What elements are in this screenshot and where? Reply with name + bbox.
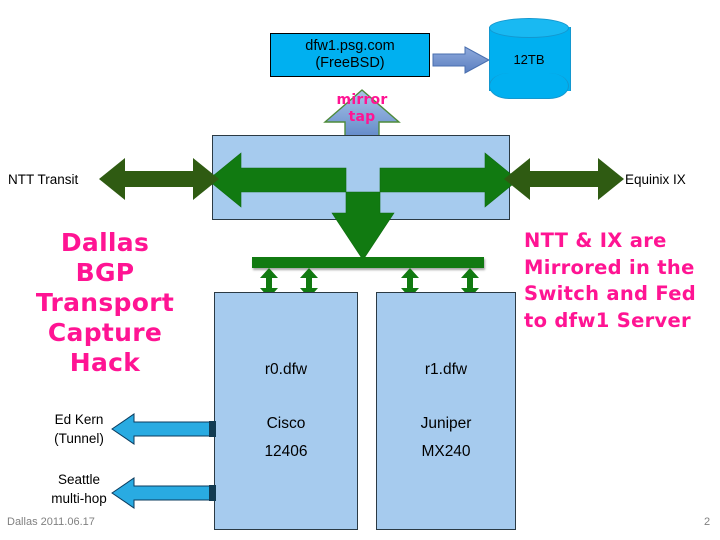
ed-kern-tunnel-arrow xyxy=(112,414,216,444)
switch-mirror-tri-arrow xyxy=(208,148,518,260)
storage-cylinder-12tb[interactable]: 12TB xyxy=(489,18,569,100)
footer-conference-date: Dallas 2011.06.17 xyxy=(7,516,95,528)
switch-bus-bar xyxy=(252,257,484,268)
router-node-r0[interactable]: r0.dfw Cisco 12406 xyxy=(214,292,358,530)
title-left-line2: BGP xyxy=(10,258,200,288)
title-left-line1: Dallas xyxy=(10,228,200,258)
router-node-r1[interactable]: r1.dfw Juniper MX240 xyxy=(376,292,516,530)
storage-capacity-label: 12TB xyxy=(489,18,569,100)
label-ntt-transit: NTT Transit xyxy=(8,172,78,187)
title-right-line3: Switch and Fed xyxy=(524,281,720,308)
title-left-line4: Capture xyxy=(10,318,200,348)
seattle-line1: Seattle xyxy=(34,470,124,489)
router1-vendor: Juniper xyxy=(421,410,472,438)
ed-kern-line2: (Tunnel) xyxy=(34,429,124,448)
equinix-ix-arrow xyxy=(504,158,624,200)
title-left-line5: Hack xyxy=(10,348,200,378)
title-left-line3: Transport xyxy=(10,288,200,318)
seattle-line2: multi-hop xyxy=(34,489,124,508)
ed-kern-line1: Ed Kern xyxy=(34,410,124,429)
title-left: Dallas BGP Transport Capture Hack xyxy=(10,228,200,378)
title-right-line4: to dfw1 Server xyxy=(524,308,720,335)
label-ed-kern: Ed Kern (Tunnel) xyxy=(34,410,124,448)
router0-model: 12406 xyxy=(264,438,307,466)
title-right: NTT & IX are Mirrored in the Switch and … xyxy=(524,228,720,334)
server-hostname: dfw1.psg.com xyxy=(305,38,394,55)
ntt-transit-arrow xyxy=(99,158,219,200)
server-os: (FreeBSD) xyxy=(315,55,384,72)
seattle-multihop-arrow xyxy=(112,478,216,508)
router1-model: MX240 xyxy=(421,438,470,466)
router0-vendor: Cisco xyxy=(267,410,306,438)
router1-name: r1.dfw xyxy=(425,356,467,384)
title-right-line2: Mirrored in the xyxy=(524,255,720,282)
title-right-line1: NTT & IX are xyxy=(524,228,720,255)
label-seattle: Seattle multi-hop xyxy=(34,470,124,508)
slide-canvas: dfw1.psg.com (FreeBSD) 12TB mirror t xyxy=(0,0,720,540)
footer-page-number: 2 xyxy=(704,516,710,528)
router0-name: r0.dfw xyxy=(265,356,307,384)
server-to-storage-arrow xyxy=(433,47,489,73)
server-node-dfw1[interactable]: dfw1.psg.com (FreeBSD) xyxy=(270,33,430,77)
label-equinix-ix: Equinix IX xyxy=(625,172,686,187)
